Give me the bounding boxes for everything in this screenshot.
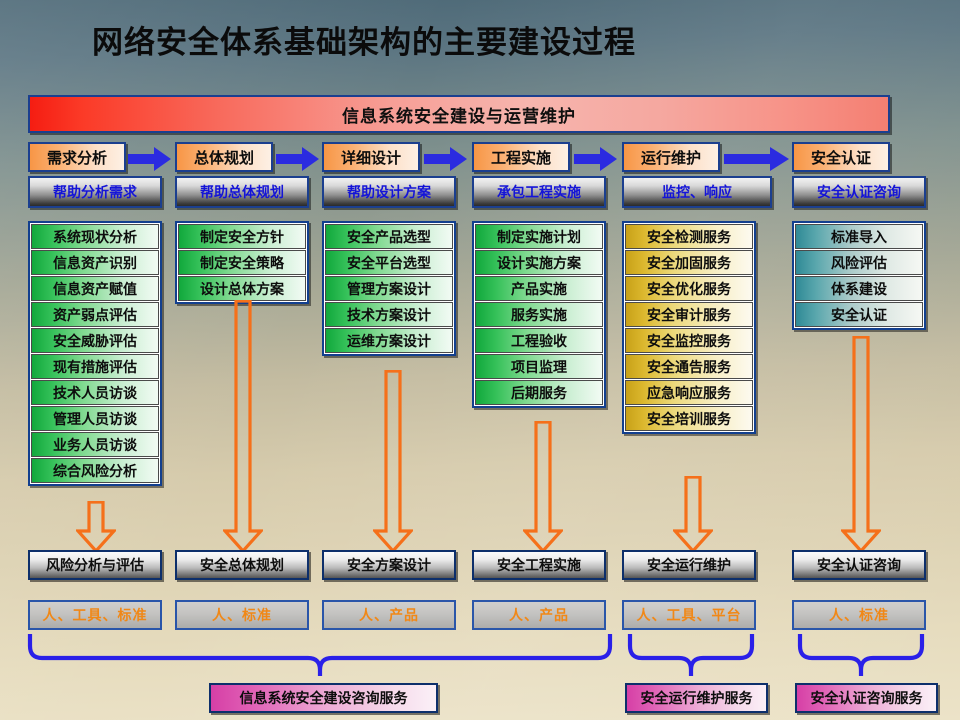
list-item[interactable]: 安全审计服务 (625, 302, 753, 327)
list-item[interactable]: 运维方案设计 (325, 328, 453, 353)
page-title: 网络安全体系基础架构的主要建设过程 (92, 17, 872, 62)
list-item[interactable]: 现有措施评估 (31, 354, 159, 379)
down-arrow-1-icon (76, 501, 116, 553)
stage-header-1-label: 需求分析 (47, 147, 107, 168)
flow-arrow-5-icon (724, 146, 790, 172)
resource-plate-6[interactable]: 人、标准 (792, 600, 926, 630)
help-plate-3-label: 帮助设计方案 (347, 182, 431, 202)
list-item[interactable]: 安全认证 (795, 302, 923, 327)
brace-2-icon (626, 632, 756, 678)
resource-plate-1[interactable]: 人、工具、标准 (28, 600, 162, 630)
stage-header-2-label: 总体规划 (194, 147, 254, 168)
flow-arrow-4-icon (574, 146, 618, 172)
list-item[interactable]: 工程验收 (475, 328, 603, 353)
down-arrow-5-icon (673, 476, 713, 553)
resource-plate-4[interactable]: 人、产品 (472, 600, 606, 630)
help-plate-1-label: 帮助分析需求 (53, 182, 137, 202)
stage-header-5[interactable]: 运行维护 (622, 142, 720, 172)
list-item[interactable]: 设计总体方案 (178, 276, 306, 301)
list-item[interactable]: 后期服务 (475, 380, 603, 405)
list-item[interactable]: 安全优化服务 (625, 276, 753, 301)
resource-plate-1-label: 人、工具、标准 (43, 605, 148, 625)
resource-plate-5-label: 人、工具、平台 (637, 605, 742, 625)
flow-arrow-2-icon (276, 146, 320, 172)
stage-header-6[interactable]: 安全认证 (792, 142, 890, 172)
help-plate-2[interactable]: 帮助总体规划 (175, 176, 309, 208)
service-plate-1-label: 信息系统安全建设咨询服务 (240, 688, 408, 708)
result-plate-3-label: 安全方案设计 (347, 555, 431, 575)
help-plate-3[interactable]: 帮助设计方案 (322, 176, 456, 208)
result-plate-5[interactable]: 安全运行维护 (622, 550, 756, 580)
list-item[interactable]: 制定安全方针 (178, 224, 306, 249)
list-item[interactable]: 技术人员访谈 (31, 380, 159, 405)
stage-header-3-label: 详细设计 (341, 147, 401, 168)
list-item[interactable]: 资产弱点评估 (31, 302, 159, 327)
service-plate-2[interactable]: 安全运行维护服务 (625, 683, 768, 713)
list-item[interactable]: 标准导入 (795, 224, 923, 249)
list-item[interactable]: 技术方案设计 (325, 302, 453, 327)
stage-header-3[interactable]: 详细设计 (322, 142, 420, 172)
help-plate-1[interactable]: 帮助分析需求 (28, 176, 162, 208)
down-arrow-3-icon (373, 370, 413, 553)
stage-header-5-label: 运行维护 (641, 147, 701, 168)
list-item[interactable]: 信息资产赋值 (31, 276, 159, 301)
service-plate-1[interactable]: 信息系统安全建设咨询服务 (209, 683, 438, 713)
flow-arrow-3-icon (424, 146, 468, 172)
help-plate-4[interactable]: 承包工程实施 (472, 176, 606, 208)
top-banner-label: 信息系统安全建设与运营维护 (342, 102, 576, 127)
list-item[interactable]: 安全培训服务 (625, 406, 753, 431)
list-item[interactable]: 安全检测服务 (625, 224, 753, 249)
resource-plate-4-label: 人、产品 (509, 605, 569, 625)
list-item[interactable]: 管理方案设计 (325, 276, 453, 301)
result-plate-1-label: 风险分析与评估 (46, 555, 144, 575)
list-item[interactable]: 产品实施 (475, 276, 603, 301)
stage-header-4[interactable]: 工程实施 (472, 142, 570, 172)
help-plate-5-label: 监控、响应 (662, 182, 732, 202)
resource-plate-3[interactable]: 人、产品 (322, 600, 456, 630)
list-item[interactable]: 制定安全策略 (178, 250, 306, 275)
stage-header-2[interactable]: 总体规划 (175, 142, 273, 172)
item-stack-4: 制定实施计划 设计实施方案 产品实施 服务实施 工程验收 项目监理 后期服务 (472, 221, 606, 408)
list-item[interactable]: 综合风险分析 (31, 458, 159, 483)
result-plate-2-label: 安全总体规划 (200, 555, 284, 575)
list-item[interactable]: 安全平台选型 (325, 250, 453, 275)
list-item[interactable]: 服务实施 (475, 302, 603, 327)
result-plate-3[interactable]: 安全方案设计 (322, 550, 456, 580)
help-plate-6-label: 安全认证咨询 (817, 182, 901, 202)
result-plate-4-label: 安全工程实施 (497, 555, 581, 575)
resource-plate-2[interactable]: 人、标准 (175, 600, 309, 630)
item-stack-2: 制定安全方针 制定安全策略 设计总体方案 (175, 221, 309, 304)
list-item[interactable]: 系统现状分析 (31, 224, 159, 249)
help-plate-4-label: 承包工程实施 (497, 182, 581, 202)
result-plate-4[interactable]: 安全工程实施 (472, 550, 606, 580)
result-plate-5-label: 安全运行维护 (647, 555, 731, 575)
stage-header-4-label: 工程实施 (491, 147, 551, 168)
list-item[interactable]: 安全通告服务 (625, 354, 753, 379)
item-stack-6: 标准导入 风险评估 体系建设 安全认证 (792, 221, 926, 330)
list-item[interactable]: 安全威胁评估 (31, 328, 159, 353)
flow-arrow-1-icon (128, 146, 172, 172)
service-plate-3[interactable]: 安全认证咨询服务 (795, 683, 938, 713)
help-plate-6[interactable]: 安全认证咨询 (792, 176, 926, 208)
brace-1-icon (26, 632, 614, 678)
list-item[interactable]: 业务人员访谈 (31, 432, 159, 457)
result-plate-6-label: 安全认证咨询 (817, 555, 901, 575)
list-item[interactable]: 设计实施方案 (475, 250, 603, 275)
down-arrow-2-icon (223, 300, 263, 553)
slide-canvas: 网络安全体系基础架构的主要建设过程 信息系统安全建设与运营维护 需求分析 帮助分… (0, 0, 960, 720)
list-item[interactable]: 制定实施计划 (475, 224, 603, 249)
help-plate-2-label: 帮助总体规划 (200, 182, 284, 202)
down-arrow-4-icon (523, 421, 563, 553)
service-plate-2-label: 安全运行维护服务 (641, 688, 753, 708)
resource-plate-3-label: 人、产品 (359, 605, 419, 625)
resource-plate-5[interactable]: 人、工具、平台 (622, 600, 756, 630)
list-item[interactable]: 风险评估 (795, 250, 923, 275)
item-stack-3: 安全产品选型 安全平台选型 管理方案设计 技术方案设计 运维方案设计 (322, 221, 456, 356)
down-arrow-6-icon (841, 336, 881, 553)
list-item[interactable]: 信息资产识别 (31, 250, 159, 275)
list-item[interactable]: 管理人员访谈 (31, 406, 159, 431)
result-plate-1[interactable]: 风险分析与评估 (28, 550, 162, 580)
service-plate-3-label: 安全认证咨询服务 (811, 688, 923, 708)
list-item[interactable]: 应急响应服务 (625, 380, 753, 405)
result-plate-2[interactable]: 安全总体规划 (175, 550, 309, 580)
resource-plate-6-label: 人、标准 (829, 605, 889, 625)
list-item[interactable]: 项目监理 (475, 354, 603, 379)
result-plate-6[interactable]: 安全认证咨询 (792, 550, 926, 580)
list-item[interactable]: 安全加固服务 (625, 250, 753, 275)
stage-header-6-label: 安全认证 (811, 147, 871, 168)
list-item[interactable]: 体系建设 (795, 276, 923, 301)
help-plate-5[interactable]: 监控、响应 (622, 176, 772, 208)
brace-3-icon (796, 632, 926, 678)
top-banner: 信息系统安全建设与运营维护 (28, 95, 890, 133)
item-stack-1: 系统现状分析 信息资产识别 信息资产赋值 资产弱点评估 安全威胁评估 现有措施评… (28, 221, 162, 486)
resource-plate-2-label: 人、标准 (212, 605, 272, 625)
stage-header-1[interactable]: 需求分析 (28, 142, 126, 172)
item-stack-5: 安全检测服务 安全加固服务 安全优化服务 安全审计服务 安全监控服务 安全通告服… (622, 221, 756, 434)
list-item[interactable]: 安全监控服务 (625, 328, 753, 353)
list-item[interactable]: 安全产品选型 (325, 224, 453, 249)
